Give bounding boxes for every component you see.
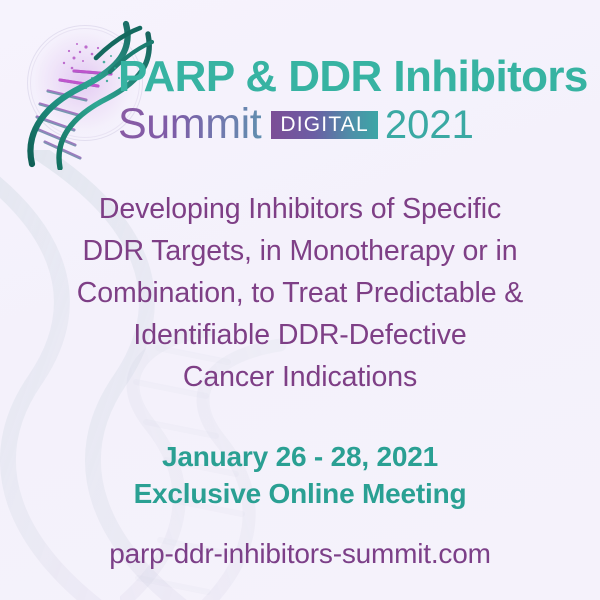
headline-line-4: Identifiable DDR-Defective	[30, 314, 570, 356]
headline-line-5: Cancer Indications	[30, 356, 570, 398]
logo-summit-word: Summit	[118, 102, 271, 146]
event-format: Exclusive Online Meeting	[30, 475, 570, 512]
digital-badge: DIGITAL	[271, 111, 378, 139]
event-dates: January 26 - 28, 2021	[30, 438, 570, 475]
poster-canvas: PARP & DDR Inhibitors Summit DIGITAL 202…	[0, 0, 600, 600]
logo-title-line: PARP & DDR Inhibitors	[118, 54, 588, 100]
headline-line-1: Developing Inhibitors of Specific	[30, 188, 570, 230]
logo-subtitle-line: Summit DIGITAL 2021	[118, 101, 588, 147]
headline-line-3: Combination, to Treat Predictable &	[30, 272, 570, 314]
website-url[interactable]: parp-ddr-inhibitors-summit.com	[30, 536, 570, 572]
headline-line-2: DDR Targets, in Monotherapy or in	[30, 230, 570, 272]
logo-wordmark: PARP & DDR Inhibitors Summit DIGITAL 202…	[118, 54, 588, 147]
page-title: Developing Inhibitors of Specific DDR Ta…	[30, 188, 570, 398]
event-logo: PARP & DDR Inhibitors Summit DIGITAL 202…	[14, 18, 589, 173]
event-details: January 26 - 28, 2021 Exclusive Online M…	[30, 438, 570, 512]
logo-year: 2021	[385, 104, 474, 146]
